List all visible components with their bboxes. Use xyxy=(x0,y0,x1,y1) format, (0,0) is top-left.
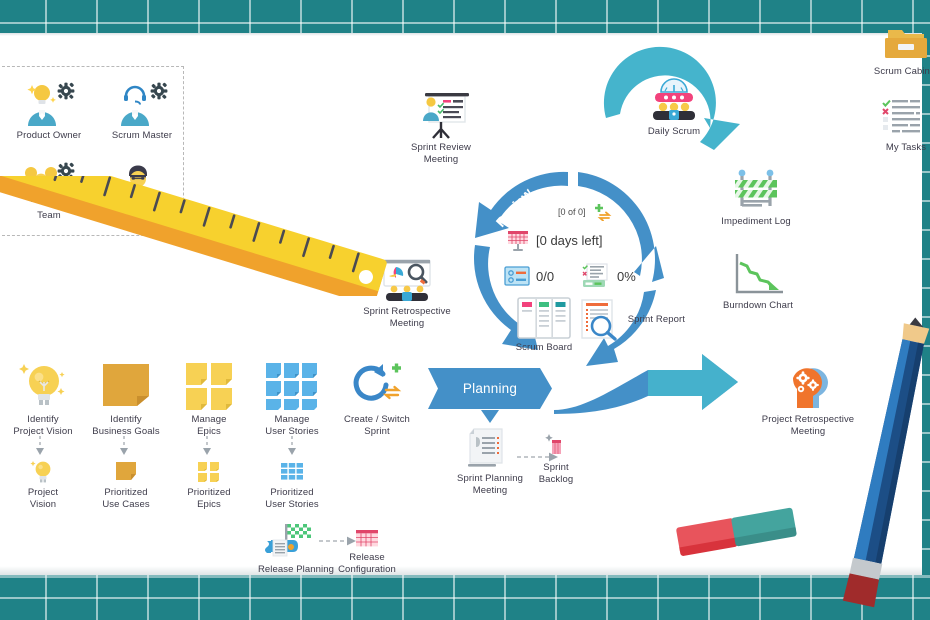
node-label: Project Vision xyxy=(8,487,78,510)
metric-value: [0 of 0] xyxy=(558,207,586,217)
lightbulb-small-icon xyxy=(29,459,57,485)
node-sprint-review-meeting[interactable]: Sprint Review Meeting xyxy=(393,88,489,165)
planning-label: Planning xyxy=(463,381,517,396)
node-my-tasks[interactable]: My Tasks xyxy=(866,98,930,154)
vision-down-arrow xyxy=(34,436,46,460)
checklist-icon xyxy=(581,263,611,289)
node-label: Manage User Stories xyxy=(252,414,332,437)
story-grid-small-icon xyxy=(278,459,306,485)
diagram-canvas: Product Owner Scrum Maste xyxy=(0,0,930,620)
desk-mat-top xyxy=(0,0,930,33)
node-impediment-log[interactable]: Impediment Log xyxy=(708,168,804,228)
metric-value: 0% xyxy=(617,269,636,284)
burndown-line-icon xyxy=(727,250,789,298)
sprint-cycle-plus-icon xyxy=(350,360,404,412)
node-label: Impediment Log xyxy=(708,216,804,228)
node-label: Identify Project Vision xyxy=(5,414,81,437)
node-manage-user-stories[interactable]: Manage User Stories xyxy=(252,360,332,437)
node-scrum-board[interactable]: Scrum Board xyxy=(506,296,582,354)
kanban-board-icon xyxy=(514,296,574,340)
node-label: Sprint Retrospective Meeting xyxy=(352,306,462,329)
node-label: Scrum Cabinet xyxy=(858,66,930,78)
four-notes-small-icon xyxy=(195,459,223,485)
node-identify-project-vision[interactable]: Identify Project Vision xyxy=(5,360,81,437)
node-product-owner[interactable]: Product Owner xyxy=(8,80,90,142)
node-scrum-cabinet[interactable]: Scrum Cabinet xyxy=(858,26,930,78)
calendar-icon xyxy=(506,228,530,252)
node-label: Prioritized Epics xyxy=(173,487,245,510)
node-sprint-report[interactable]: Sprint Report xyxy=(575,298,685,342)
eraser xyxy=(672,505,807,565)
paper-edge-shadow-bottom xyxy=(0,566,930,575)
node-label: Identify Business Goals xyxy=(88,414,164,437)
node-burndown-chart[interactable]: Burndown Chart xyxy=(710,250,806,312)
desk-mat-bottom xyxy=(0,575,930,620)
planning-down-arrow xyxy=(478,408,502,426)
four-notes-icon xyxy=(182,360,236,412)
node-daily-scrum[interactable]: Daily Scrum xyxy=(627,76,721,138)
metric-story-count: [0 of 0] xyxy=(558,203,614,221)
cycle-exit-arrow xyxy=(552,352,784,414)
standup-team-icon xyxy=(643,76,705,124)
node-label: Prioritized User Stories xyxy=(253,487,331,510)
node-label: Sprint Report xyxy=(628,314,685,326)
node-label: Sprint Backlog xyxy=(528,462,584,485)
node-identify-business-goals[interactable]: Identify Business Goals xyxy=(88,360,164,437)
story-grid-icon xyxy=(264,360,320,412)
lightbulb-icon xyxy=(15,360,71,412)
metric-days-left: [0 days left] xyxy=(506,228,602,252)
node-manage-epics[interactable]: Manage Epics xyxy=(171,360,247,437)
metric-value: [0 days left] xyxy=(536,233,602,248)
person-headset-gear-icon xyxy=(113,80,171,128)
task-list-icon xyxy=(881,98,930,140)
node-label: Scrum Master xyxy=(101,130,183,142)
task-card-icon xyxy=(504,265,530,287)
person-lightbulb-gear-icon xyxy=(20,80,78,128)
sticky-note-icon xyxy=(99,360,153,412)
calendar-red-icon xyxy=(354,528,380,550)
node-project-vision[interactable]: Project Vision xyxy=(8,459,78,510)
presentation-person-icon xyxy=(411,88,471,140)
node-create-switch-sprint[interactable]: Create / Switch Sprint xyxy=(335,360,419,437)
node-label: Burndown Chart xyxy=(710,300,806,312)
node-prioritized-user-stories[interactable]: Prioritized User Stories xyxy=(253,459,331,510)
node-label: Sprint Review Meeting xyxy=(393,142,489,165)
file-cabinet-icon xyxy=(882,26,930,64)
roadblock-barrier-icon xyxy=(728,168,784,214)
planning-doc-icon xyxy=(460,425,520,471)
planning-chevron[interactable]: Planning xyxy=(428,368,552,409)
node-label: Manage Epics xyxy=(171,414,247,437)
node-prioritized-use-cases[interactable]: Prioritized Use Cases xyxy=(89,459,163,510)
node-label: Release Configuration xyxy=(330,552,404,575)
stories-down-arrow xyxy=(286,436,298,460)
pencil xyxy=(828,315,930,615)
node-label: Sprint Planning Meeting xyxy=(444,473,536,496)
node-label: Daily Scrum xyxy=(627,126,721,138)
usecases-down-arrow xyxy=(118,436,130,460)
node-scrum-master[interactable]: Scrum Master xyxy=(101,80,183,142)
node-release-configuration[interactable]: Release Configuration xyxy=(330,528,404,575)
node-sprint-backlog[interactable]: Sprint Backlog xyxy=(528,432,584,485)
node-prioritized-epics[interactable]: Prioritized Epics xyxy=(173,459,245,510)
metric-value: 0/0 xyxy=(536,269,554,284)
node-label: Prioritized Use Cases xyxy=(89,487,163,510)
metric-completion-percent: 0% xyxy=(581,263,636,289)
node-label: Create / Switch Sprint xyxy=(335,414,419,437)
backlog-stack-icon xyxy=(541,432,571,460)
paper-edge-shadow-top xyxy=(0,33,930,36)
report-magnifier-icon xyxy=(577,298,621,342)
node-label: Product Owner xyxy=(8,130,90,142)
ruler xyxy=(0,176,394,296)
node-label: My Tasks xyxy=(866,142,930,154)
epics-down-arrow xyxy=(201,436,213,460)
sprint-switch-icon xyxy=(592,203,614,221)
sticky-note-small-icon xyxy=(112,459,140,485)
segment-label-implementation: Implementation xyxy=(655,207,697,307)
metric-task-ratio: 0/0 xyxy=(504,265,554,287)
